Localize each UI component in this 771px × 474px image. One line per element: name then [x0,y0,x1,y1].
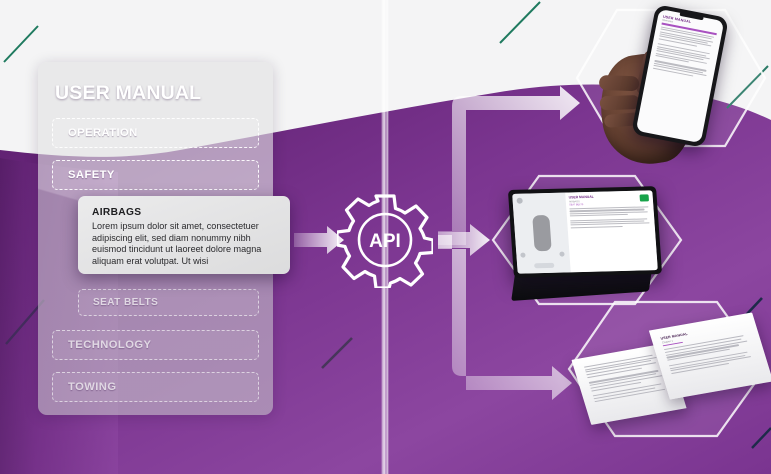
printed-booklet: USER MANUAL Chapter 1 [575,314,759,426]
gear-icon: API [337,192,433,288]
airbags-callout-card[interactable]: AIRBAGS Lorem ipsum dolor sit amet, cons… [78,196,290,274]
sidebar-item-seat-belts[interactable]: SEAT BELTS [78,289,259,316]
sidebar-item-label: SAFETY [53,169,115,181]
book-page-right: USER MANUAL Chapter 1 [649,312,771,399]
status-badge [640,194,649,201]
sidebar-item-label: TOWING [53,381,116,393]
manual-document-pane[interactable]: USER MANUAL AIRBAGS SEAT BELTS [565,190,657,272]
phone-screen[interactable]: USER MANUAL Overview [636,9,724,143]
sidebar-item-towing[interactable]: TOWING [52,372,259,402]
callout-heading: AIRBAGS [92,207,141,218]
car-graphic-icon [532,215,552,251]
infotainment-display[interactable]: USER MANUAL AIRBAGS SEAT BELTS [508,186,662,278]
diagram-canvas: USER MANUAL OPERATION SAFETY SEAT BELTS … [0,0,771,474]
sidebar-item-safety[interactable]: SAFETY [52,160,259,190]
sidebar-item-label: SEAT BELTS [79,297,158,308]
sidebar-item-label: OPERATION [53,127,138,139]
sidebar-item-label: TECHNOLOGY [53,339,151,351]
hub-label: API [369,231,401,252]
sidebar-item-operation[interactable]: OPERATION [52,118,259,148]
smartphone-device: USER MANUAL Overview [631,4,729,148]
sidebar-item-technology[interactable]: TECHNOLOGY [52,330,259,360]
output-card-print[interactable]: USER MANUAL Chapter 1 [563,298,771,440]
api-gear-hub[interactable]: API [337,192,433,288]
output-card-mobile[interactable]: USER MANUAL Overview [573,2,771,154]
callout-body: Lorem ipsum dolor sit amet, consectetuer… [92,221,278,267]
vehicle-controls-pane[interactable] [512,193,571,274]
page-title: USER MANUAL [55,82,201,105]
output-card-infotainment[interactable]: USER MANUAL AIRBAGS SEAT BELTS [489,172,685,308]
